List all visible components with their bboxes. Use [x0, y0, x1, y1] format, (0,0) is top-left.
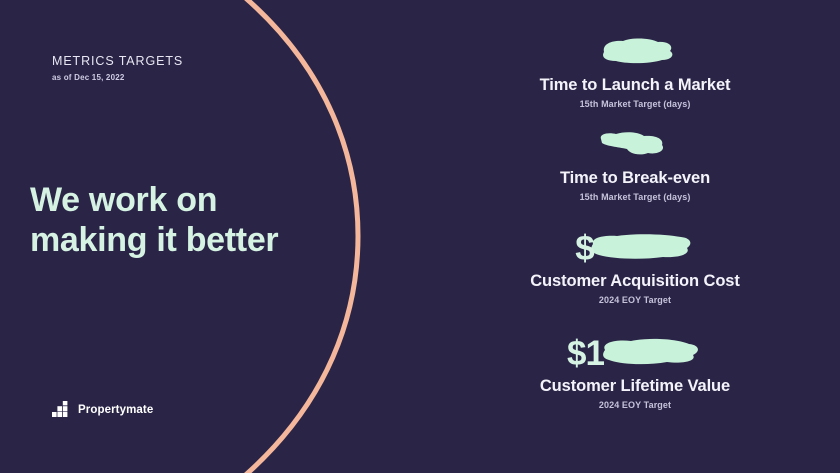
metric-sublabel: 2024 EOY Target	[430, 295, 840, 305]
metric-item: $1 Customer Lifetime Value 2024 EOY Targ…	[430, 329, 840, 410]
page-title-line-1: We work on	[30, 180, 330, 220]
eyebrow-block: METRICS TARGETS as of Dec 15, 2022	[52, 54, 183, 82]
brand-logo-text: Propertymate	[78, 404, 153, 416]
metric-value	[430, 28, 840, 76]
metric-value: $1	[430, 329, 840, 377]
metric-item: Time to Break-even 15th Market Target (d…	[430, 121, 840, 202]
metric-sublabel: 15th Market Target (days)	[430, 192, 840, 202]
eyebrow-subtitle: as of Dec 15, 2022	[52, 73, 183, 82]
eyebrow-title: METRICS TARGETS	[52, 54, 183, 69]
metric-label: Time to Launch a Market	[430, 76, 840, 95]
metric-sublabel: 15th Market Target (days)	[430, 99, 840, 109]
metric-item: $ Customer Acquisition Cost 2024 EOY Tar…	[430, 224, 840, 305]
redacted-value-blob	[592, 35, 678, 69]
redacted-value-blob	[594, 129, 676, 161]
metric-value: $	[430, 224, 840, 272]
metrics-list: Time to Launch a Market 15th Market Targ…	[430, 0, 840, 473]
metric-label: Customer Acquisition Cost	[430, 272, 840, 291]
metric-label: Customer Lifetime Value	[430, 377, 840, 396]
bar-chart-steps-icon	[52, 401, 71, 418]
page-title: We work on making it better	[30, 180, 330, 260]
brand-logo: Propertymate	[52, 401, 153, 418]
metric-value-prefix: $1	[567, 336, 604, 371]
metric-label: Time to Break-even	[430, 169, 840, 188]
left-column: METRICS TARGETS as of Dec 15, 2022 We wo…	[0, 0, 240, 473]
metric-value	[430, 121, 840, 169]
redacted-value-blob	[597, 336, 703, 370]
redacted-value-blob	[587, 232, 695, 264]
metric-value-prefix: $	[575, 231, 593, 266]
metric-sublabel: 2024 EOY Target	[430, 400, 840, 410]
page-title-line-2: making it better	[30, 220, 330, 260]
metric-item: Time to Launch a Market 15th Market Targ…	[430, 28, 840, 109]
presentation-slide: METRICS TARGETS as of Dec 15, 2022 We wo…	[0, 0, 840, 473]
